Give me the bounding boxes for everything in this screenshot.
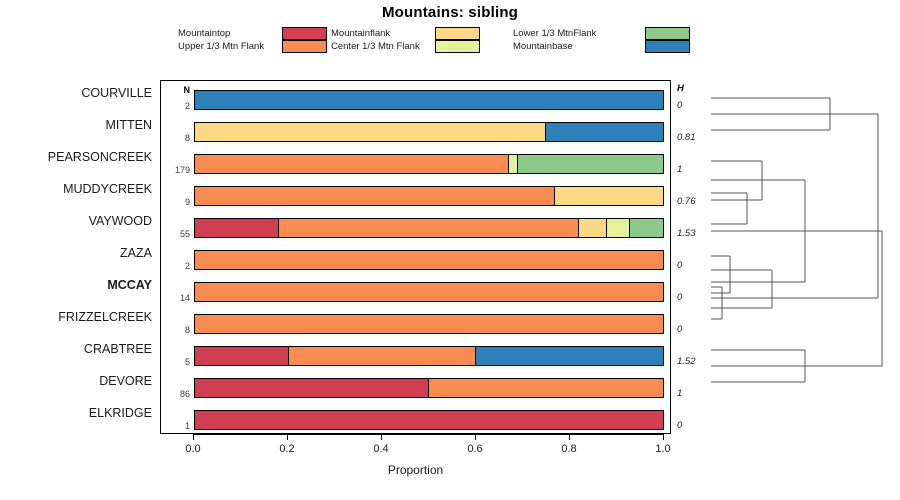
bar-segment[interactable]: [289, 347, 476, 365]
row-n-value: 2: [161, 101, 190, 111]
row-n-value: 1: [161, 421, 190, 431]
row-n-value: 9: [161, 197, 190, 207]
x-tick-mark: [193, 434, 194, 440]
row-n-value: 2: [161, 261, 190, 271]
bar-segment[interactable]: [195, 283, 663, 301]
row-n-value: 8: [161, 325, 190, 335]
y-axis-label: PEARSONCREEK: [0, 149, 152, 165]
legend-label-center-third: Center 1/3 Mtn Flank: [331, 40, 420, 53]
bar-segment[interactable]: [630, 219, 663, 237]
bar-segment[interactable]: [607, 219, 630, 237]
stacked-bar[interactable]: [194, 314, 664, 334]
table-row: 140: [161, 276, 672, 308]
table-row: 80.81: [161, 116, 672, 148]
table-row: 1791: [161, 148, 672, 180]
stacked-bar[interactable]: [194, 154, 664, 174]
legend-swatches-1: [435, 27, 480, 53]
x-axis-line: [193, 434, 663, 435]
legend-swatch-upper-third: [282, 40, 327, 53]
stacked-bar[interactable]: [194, 250, 664, 270]
chart-root: Mountains: sibling Mountaintop Upper 1/3…: [0, 0, 900, 500]
legend-label-mountainbase: Mountainbase: [513, 40, 596, 53]
bar-segment[interactable]: [195, 219, 279, 237]
chart-title: Mountains: sibling: [0, 4, 900, 21]
bar-segment[interactable]: [476, 347, 663, 365]
x-tick-label: 0.6: [455, 443, 495, 455]
x-tick-label: 0.8: [549, 443, 589, 455]
stacked-bar[interactable]: [194, 282, 664, 302]
bar-segment[interactable]: [195, 411, 663, 429]
bar-segment[interactable]: [195, 187, 555, 205]
legend-labels-0: Mountaintop Upper 1/3 Mtn Flank: [178, 27, 264, 53]
legend-label-mountaintop: Mountaintop: [178, 27, 264, 40]
row-n-value: 55: [161, 229, 190, 239]
x-tick-mark: [287, 434, 288, 440]
y-axis-label: ELKRIDGE: [0, 405, 152, 421]
legend-swatch-lower-third: [645, 27, 690, 40]
legend-swatch-mountaintop: [282, 27, 327, 40]
bar-segment[interactable]: [195, 123, 546, 141]
bar-segment[interactable]: [195, 347, 289, 365]
x-tick-mark: [475, 434, 476, 440]
legend-swatch-center-third: [435, 40, 480, 53]
x-axis-title: Proportion: [160, 463, 671, 477]
x-tick-label: 1.0: [643, 443, 683, 455]
table-row: 20: [161, 244, 672, 276]
y-axis-label: CRABTREE: [0, 341, 152, 357]
legend-swatches-2: [645, 27, 690, 53]
legend-labels-2: Lower 1/3 MtnFlank Mountainbase: [513, 27, 596, 53]
bar-segment[interactable]: [579, 219, 607, 237]
legend-labels-1: Mountainflank Center 1/3 Mtn Flank: [331, 27, 420, 53]
legend-swatch-mountainflank: [435, 27, 480, 40]
y-axis-label: ZAZA: [0, 245, 152, 261]
x-tick-label: 0.0: [173, 443, 213, 455]
y-axis-label: MCCAY: [0, 277, 152, 293]
bar-segment[interactable]: [195, 379, 429, 397]
legend-label-upper-third: Upper 1/3 Mtn Flank: [178, 40, 264, 53]
bar-segment[interactable]: [555, 187, 663, 205]
stacked-bar[interactable]: [194, 90, 664, 110]
y-axis-label: MUDDYCREEK: [0, 181, 152, 197]
table-row: 80: [161, 308, 672, 340]
bar-segment[interactable]: [195, 91, 663, 109]
row-n-value: 8: [161, 133, 190, 143]
table-row: 51.52: [161, 340, 672, 372]
dendrogram-svg: [700, 80, 895, 434]
dendrogram: [700, 80, 895, 434]
bar-segment[interactable]: [195, 251, 663, 269]
stacked-bar[interactable]: [194, 122, 664, 142]
bar-segment[interactable]: [429, 379, 663, 397]
table-row: 10: [161, 404, 672, 436]
x-tick-mark: [381, 434, 382, 440]
bar-segment[interactable]: [546, 123, 663, 141]
y-axis-label: VAYWOOD: [0, 213, 152, 229]
stacked-bar[interactable]: [194, 378, 664, 398]
bar-segment[interactable]: [518, 155, 663, 173]
x-tick-label: 0.2: [267, 443, 307, 455]
bar-segment[interactable]: [279, 219, 579, 237]
stacked-bar[interactable]: [194, 410, 664, 430]
x-tick-mark: [569, 434, 570, 440]
y-axis-label: COURVILLE: [0, 85, 152, 101]
stacked-bar[interactable]: [194, 186, 664, 206]
legend-swatches-0: [282, 27, 327, 53]
table-row: 90.76: [161, 180, 672, 212]
bar-segment[interactable]: [509, 155, 518, 173]
legend-label-lower-third: Lower 1/3 MtnFlank: [513, 27, 596, 40]
table-row: 861: [161, 372, 672, 404]
stacked-bar[interactable]: [194, 346, 664, 366]
table-row: 20: [161, 84, 672, 116]
legend: Mountaintop Upper 1/3 Mtn Flank Mountain…: [178, 27, 698, 53]
table-row: 551.53: [161, 212, 672, 244]
stacked-bar[interactable]: [194, 218, 664, 238]
bar-segment[interactable]: [195, 155, 509, 173]
legend-swatch-mountainbase: [645, 40, 690, 53]
row-n-value: 14: [161, 293, 190, 303]
x-tick-label: 0.4: [361, 443, 401, 455]
plot-panel: N H 2080.81179190.76551.53201408051.5286…: [160, 80, 671, 434]
y-axis-label: DEVORE: [0, 373, 152, 389]
row-n-value: 179: [161, 165, 190, 175]
row-n-value: 86: [161, 389, 190, 399]
y-axis-label: MITTEN: [0, 117, 152, 133]
y-axis-label: FRIZZELCREEK: [0, 309, 152, 325]
bar-segment[interactable]: [195, 315, 663, 333]
x-tick-mark: [663, 434, 664, 440]
row-n-value: 5: [161, 357, 190, 367]
legend-label-mountainflank: Mountainflank: [331, 27, 420, 40]
